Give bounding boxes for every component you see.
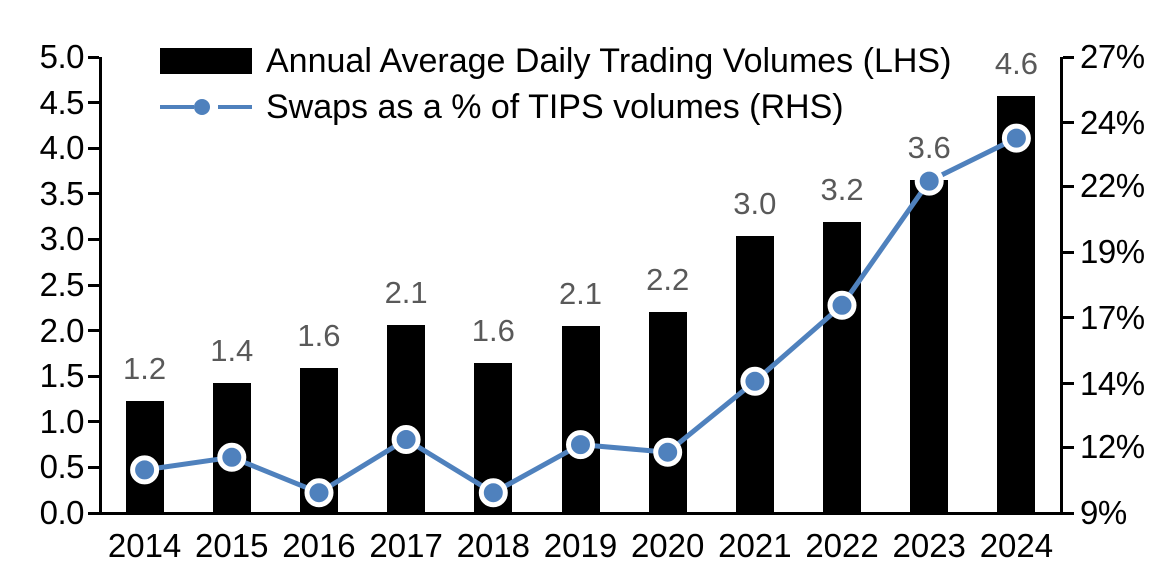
left-axis-tick [88, 284, 99, 287]
bar [562, 326, 600, 513]
left-axis-tick-label: 4.0 [40, 131, 84, 164]
right-axis-tick-label: 9% [1080, 496, 1127, 529]
left-axis-tick-label: 0.0 [40, 496, 84, 529]
left-axis-tick-label: 3.5 [40, 177, 84, 210]
left-axis-tick-label: 1.0 [40, 405, 84, 438]
bar [387, 325, 425, 513]
left-axis-tick-label: 4.5 [40, 86, 84, 119]
bar-value-label: 2.2 [623, 264, 713, 295]
left-axis-tick [88, 375, 99, 378]
right-axis-tick [1063, 512, 1074, 515]
bar-value-label: 2.1 [361, 277, 451, 308]
right-axis-tick-label: 14% [1080, 367, 1145, 400]
left-axis-line [99, 57, 102, 514]
bar-value-label: 1.2 [100, 353, 190, 384]
legend-item-line: Swaps as a % of TIPS volumes (RHS) [160, 84, 951, 130]
legend-swatch-line-icon [160, 94, 252, 120]
right-axis-tick [1063, 316, 1074, 319]
bar [823, 222, 861, 513]
x-axis-label: 2024 [961, 528, 1071, 564]
left-axis-tick-label: 2.0 [40, 314, 84, 347]
bar [736, 236, 774, 513]
right-axis-tick-label: 19% [1080, 235, 1145, 268]
left-axis-tick [88, 512, 99, 515]
bar-value-label: 3.2 [797, 174, 887, 205]
legend-swatch-bar-icon [160, 48, 252, 74]
bar-value-label: 1.6 [448, 315, 538, 346]
right-axis-tick [1063, 382, 1074, 385]
bar-value-label: 1.4 [187, 335, 277, 366]
legend-line-marker-icon [194, 99, 210, 115]
bar [300, 368, 338, 513]
bar-value-label: 4.6 [971, 48, 1061, 79]
left-axis-tick [88, 192, 99, 195]
right-axis-tick-label: 17% [1080, 301, 1145, 334]
legend-line-segment-left [160, 105, 194, 109]
right-axis-tick [1063, 121, 1074, 124]
left-axis-tick [88, 238, 99, 241]
left-axis-tick [88, 101, 99, 104]
right-axis-tick [1063, 185, 1074, 188]
bar [997, 96, 1035, 513]
bar [474, 363, 512, 513]
legend-label-line: Swaps as a % of TIPS volumes (RHS) [266, 90, 844, 124]
left-axis-tick-label: 0.5 [40, 450, 84, 483]
right-axis-tick-label: 24% [1080, 106, 1145, 139]
left-axis-tick-label: 5.0 [40, 40, 84, 73]
left-axis-tick [88, 329, 99, 332]
dual-axis-chart: 0.00.51.01.52.02.53.03.54.04.55.0 9%12%1… [0, 0, 1152, 584]
left-axis-tick-label: 1.5 [40, 359, 84, 392]
left-axis-tick-label: 3.0 [40, 222, 84, 255]
bar [213, 383, 251, 513]
left-axis-tick [88, 56, 99, 59]
right-axis-tick-label: 12% [1080, 430, 1145, 463]
bar-value-label: 3.0 [710, 188, 800, 219]
bar-value-label: 3.6 [884, 132, 974, 163]
left-axis-tick [88, 147, 99, 150]
bar [910, 180, 948, 513]
legend-line-segment-right [218, 105, 252, 109]
legend-label-bars: Annual Average Daily Trading Volumes (LH… [266, 44, 951, 78]
bar-value-label: 1.6 [274, 320, 364, 351]
left-axis-tick [88, 466, 99, 469]
bar [649, 312, 687, 513]
bar-value-label: 2.1 [536, 278, 626, 309]
legend-item-bars: Annual Average Daily Trading Volumes (LH… [160, 38, 951, 84]
legend: Annual Average Daily Trading Volumes (LH… [160, 38, 951, 130]
right-axis-tick-label: 27% [1080, 40, 1145, 73]
right-axis-tick-label: 22% [1080, 169, 1145, 202]
left-axis-tick [88, 420, 99, 423]
right-axis-tick [1063, 446, 1074, 449]
right-axis-tick [1063, 251, 1074, 254]
bar [126, 401, 164, 513]
left-axis-tick-label: 2.5 [40, 268, 84, 301]
right-axis-tick [1063, 56, 1074, 59]
